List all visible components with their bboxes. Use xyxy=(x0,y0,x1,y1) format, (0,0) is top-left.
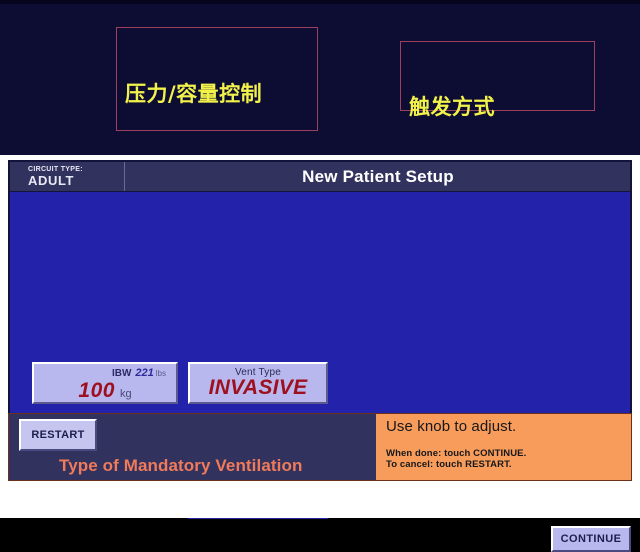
instruction-line-continue: When done: touch CONTINUE. xyxy=(386,448,631,459)
ibw-kg-unit: kg xyxy=(120,388,132,400)
ibw-lbs-row: IBW221lbs xyxy=(34,366,176,380)
ibw-lbs-value: 221 xyxy=(135,367,153,379)
instruction-secondary: When done: touch CONTINUE. To cancel: to… xyxy=(386,448,631,470)
instruction-panel: Use knob to adjust. When done: touch CON… xyxy=(376,414,631,480)
continue-button[interactable]: CONTINUE xyxy=(551,526,631,552)
circuit-type-value: ADULT xyxy=(28,173,124,188)
ibw-kg-row: 100kg xyxy=(34,380,176,404)
annotation-box-pressure-volume-control: 压力/容量控制 定容 -> VC 定压 -> PC xyxy=(116,27,318,131)
annotation-right-line-1: 触发方式 xyxy=(409,95,588,121)
footer-strip xyxy=(0,481,640,518)
context-caption: Type of Mandatory Ventilation xyxy=(59,456,389,476)
bottom-status-bar: RESTART Type of Mandatory Ventilation Us… xyxy=(8,413,632,481)
screenshot-root: 压力/容量控制 定容 -> VC 定压 -> PC 触发方式 默认流量触发 CI… xyxy=(0,0,640,518)
circuit-type-cell[interactable]: CIRCUIT TYPE: ADULT xyxy=(20,162,125,191)
annotation-band: 压力/容量控制 定容 -> VC 定压 -> PC 触发方式 默认流量触发 xyxy=(0,0,640,155)
instruction-line-restart: To cancel: touch RESTART. xyxy=(386,459,631,470)
annotation-box-trigger-mode: 触发方式 默认流量触发 xyxy=(400,41,595,111)
vent-type-value: INVASIVE xyxy=(190,377,326,399)
page-title: New Patient Setup xyxy=(126,162,630,191)
ibw-kg-value: 100 xyxy=(78,379,115,402)
annotation-left-line-1: 压力/容量控制 xyxy=(125,82,311,108)
restart-button[interactable]: RESTART xyxy=(19,419,97,451)
ibw-label: IBW xyxy=(112,368,131,379)
ibw-lbs-unit: lbs xyxy=(156,369,166,378)
ibw-setting-button[interactable]: IBW221lbs 100kg xyxy=(32,362,178,404)
screen-titlebar: CIRCUIT TYPE: ADULT New Patient Setup xyxy=(10,162,630,192)
circuit-type-label: CIRCUIT TYPE: xyxy=(28,166,124,173)
vent-type-setting-button[interactable]: Vent Type INVASIVE xyxy=(188,362,328,404)
instruction-primary: Use knob to adjust. xyxy=(386,418,631,436)
